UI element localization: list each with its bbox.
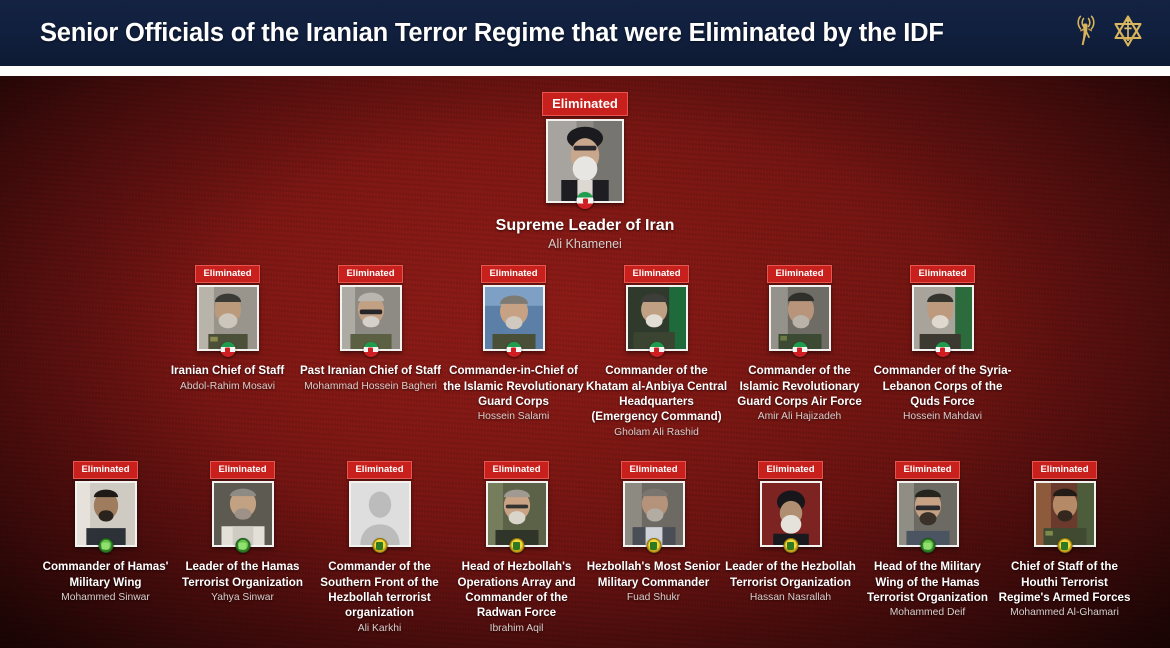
- portrait-wrapper: [1034, 481, 1096, 547]
- person-card[interactable]: Eliminated Commander of the Southern Fro…: [311, 461, 448, 635]
- person-title: Commander of the Syria-Lebanon Corps of …: [871, 363, 1014, 409]
- broadcast-antenna-icon: [1074, 13, 1104, 54]
- iran-flag-icon: [363, 342, 378, 357]
- portrait-wrapper: [486, 481, 548, 547]
- person-card[interactable]: Eliminated: [37, 461, 174, 604]
- person-card[interactable]: Eliminated: [728, 265, 871, 424]
- person-card[interactable]: Eliminated: [156, 265, 299, 393]
- portrait-wrapper: [626, 285, 688, 351]
- idf-emblem-icon: [1110, 12, 1146, 55]
- person-card[interactable]: Eliminated: [996, 461, 1133, 620]
- status-badge: Eliminated: [1032, 461, 1096, 479]
- person-card[interactable]: Eliminated: [585, 461, 722, 604]
- person-card[interactable]: Eliminated: [859, 461, 996, 620]
- iran-flag-icon: [649, 342, 664, 357]
- person-title: Commander of Hamas' Military Wing: [37, 559, 174, 590]
- hamas-emblem-icon: [920, 538, 935, 553]
- person-name: Gholam Ali Rashid: [614, 426, 699, 439]
- emblem-group: [1074, 12, 1156, 55]
- portrait-wrapper: [75, 481, 137, 547]
- person-card[interactable]: Eliminated Lea: [722, 461, 859, 604]
- header-divider: [0, 66, 1170, 76]
- person-title: Iranian Chief of Staff: [171, 363, 284, 378]
- status-badge: Eliminated: [758, 461, 822, 479]
- iran-flag-icon: [506, 342, 521, 357]
- person-card[interactable]: Eliminated: [871, 265, 1014, 424]
- person-card[interactable]: Eliminated: [585, 265, 728, 439]
- person-card[interactable]: Eliminated: [299, 265, 442, 393]
- person-card[interactable]: Eliminated: [448, 461, 585, 635]
- portrait-wrapper: [340, 285, 402, 351]
- status-badge: Eliminated: [621, 461, 685, 479]
- portrait-wrapper: [912, 285, 974, 351]
- portrait-wrapper: [197, 285, 259, 351]
- page-title: Senior Officials of the Iranian Terror R…: [40, 19, 1074, 48]
- person-name: Mohammed Al-Ghamari: [1010, 606, 1119, 619]
- status-badge: Eliminated: [195, 265, 259, 283]
- status-badge: Eliminated: [910, 265, 974, 283]
- person-title: Commander-in-Chief of the Islamic Revolu…: [442, 363, 585, 409]
- person-title: Head of the Military Wing of the Hamas T…: [859, 559, 996, 605]
- person-name: Mohammed Sinwar: [61, 591, 150, 604]
- header-bar: Senior Officials of the Iranian Terror R…: [0, 0, 1170, 66]
- row-iranian-commanders: Eliminated: [0, 251, 1170, 439]
- infographic-poster: Senior Officials of the Iranian Terror R…: [0, 0, 1170, 648]
- person-card[interactable]: Eliminated: [174, 461, 311, 604]
- hamas-emblem-icon: [235, 538, 250, 553]
- status-badge: Eliminated: [73, 461, 137, 479]
- person-name: Hossein Salami: [478, 410, 550, 423]
- person-title: Leader of the Hamas Terrorist Organizati…: [174, 559, 311, 590]
- person-title: Leader of the Hezbollah Terrorist Organi…: [722, 559, 859, 590]
- portrait-wrapper: [897, 481, 959, 547]
- status-badge: Eliminated: [210, 461, 274, 479]
- person-title: Hezbollah's Most Senior Military Command…: [585, 559, 722, 590]
- status-badge: Eliminated: [484, 461, 548, 479]
- hezbollah-emblem-icon: [509, 538, 524, 553]
- portrait-khamenei: [546, 119, 624, 203]
- status-badge: Eliminated: [481, 265, 545, 283]
- status-badge: Eliminated: [347, 461, 411, 479]
- person-title: Commander of the Khatam al-Anbiya Centra…: [585, 363, 728, 425]
- person-name: Mohammad Hossein Bagheri: [304, 380, 437, 393]
- portrait-wrapper: [546, 119, 624, 203]
- person-name: Hassan Nasrallah: [750, 591, 831, 604]
- row-proxy-commanders: Eliminated: [0, 439, 1170, 635]
- iran-flag-icon: [577, 192, 594, 209]
- portrait-wrapper: [769, 285, 831, 351]
- person-title: Commander of the Southern Front of the H…: [311, 559, 448, 621]
- person-name: Abdol-Rahim Mosavi: [180, 380, 275, 393]
- hezbollah-emblem-icon: [372, 538, 387, 553]
- person-title: Past Iranian Chief of Staff: [300, 363, 441, 378]
- person-name: Mohammed Deif: [890, 606, 966, 619]
- card-rows: Eliminated: [0, 76, 1170, 635]
- status-badge: Eliminated: [895, 461, 959, 479]
- person-card[interactable]: Eliminated: [485, 92, 685, 251]
- person-name: Ali Karkhi: [358, 622, 402, 635]
- person-title: Commander of the Islamic Revolutionary G…: [728, 363, 871, 409]
- status-badge: Eliminated: [624, 265, 688, 283]
- hezbollah-emblem-icon: [646, 538, 661, 553]
- person-name: Fuad Shukr: [627, 591, 680, 604]
- status-badge: Eliminated: [767, 265, 831, 283]
- portrait-wrapper: [623, 481, 685, 547]
- person-title: Supreme Leader of Iran: [496, 216, 675, 235]
- person-name: Yahya Sinwar: [211, 591, 274, 604]
- row-supreme-leader: Eliminated: [0, 76, 1170, 251]
- person-name: Amir Ali Hajizadeh: [758, 410, 842, 423]
- portrait-wrapper: [349, 481, 411, 547]
- person-title: Head of Hezbollah's Operations Array and…: [448, 559, 585, 621]
- status-badge: Eliminated: [542, 92, 628, 116]
- person-name: Ali Khamenei: [548, 237, 622, 251]
- hezbollah-emblem-icon: [783, 538, 798, 553]
- status-badge: Eliminated: [338, 265, 402, 283]
- hamas-emblem-icon: [98, 538, 113, 553]
- iran-flag-icon: [220, 342, 235, 357]
- houthi-emblem-icon: [1057, 538, 1072, 553]
- person-title: Chief of Staff of the Houthi Terrorist R…: [996, 559, 1133, 605]
- content-board: Eliminated: [0, 76, 1170, 648]
- person-card[interactable]: Eliminated: [442, 265, 585, 424]
- person-name: Hossein Mahdavi: [903, 410, 982, 423]
- portrait-wrapper: [760, 481, 822, 547]
- portrait-wrapper: [212, 481, 274, 547]
- person-name: Ibrahim Aqil: [490, 622, 544, 635]
- iran-flag-icon: [792, 342, 807, 357]
- portrait-wrapper: [483, 285, 545, 351]
- iran-flag-icon: [935, 342, 950, 357]
